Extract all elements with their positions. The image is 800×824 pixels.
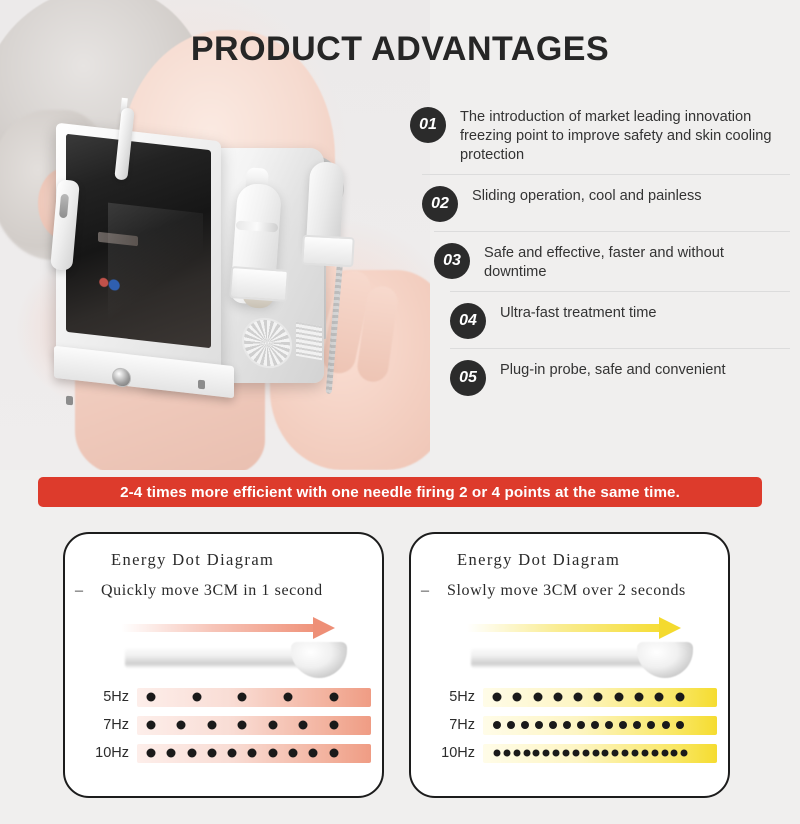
energy-dot <box>662 721 670 729</box>
energy-dot <box>602 750 609 757</box>
advantage-number-badge: 02 <box>422 186 458 222</box>
efficiency-banner: 2-4 times more efficient with one needle… <box>38 477 762 507</box>
energy-dot <box>521 721 529 729</box>
probe-head <box>291 642 347 678</box>
energy-dot <box>329 721 338 730</box>
advantage-number-badge: 04 <box>450 303 486 339</box>
energy-bar <box>137 744 371 763</box>
energy-dot <box>523 750 530 757</box>
energy-dot <box>675 693 684 702</box>
frequency-row: 7Hz <box>79 714 371 736</box>
energy-dot <box>574 693 583 702</box>
frequency-rows: 5Hz 7Hz 10Hz <box>425 686 717 770</box>
probe-tip-illustration <box>115 642 363 678</box>
energy-dot <box>641 750 648 757</box>
energy-bar <box>137 688 371 707</box>
energy-bar <box>483 688 717 707</box>
card-subtitle: –Quickly move 3CM in 1 second <box>75 582 323 600</box>
advantage-number-badge: 05 <box>450 360 486 396</box>
device-foot <box>66 396 73 406</box>
energy-dot <box>192 693 201 702</box>
handpiece-holder <box>301 235 354 268</box>
device-cable <box>326 246 345 394</box>
probe-body <box>125 648 315 668</box>
advantage-text: Safe and effective, faster and without d… <box>484 241 790 282</box>
card-title: Energy Dot Diagram <box>111 550 274 570</box>
energy-dot-diagram-card-slow: Energy Dot Diagram –Slowly move 3CM over… <box>409 532 730 798</box>
advantage-item-04: 04 Ultra-fast treatment time <box>450 291 790 348</box>
frequency-row: 7Hz <box>425 714 717 736</box>
frequency-label: 10Hz <box>425 745 483 761</box>
energy-dot <box>661 750 668 757</box>
energy-dot <box>513 693 522 702</box>
energy-dot <box>614 693 623 702</box>
frequency-label: 10Hz <box>79 745 137 761</box>
energy-dot <box>533 693 542 702</box>
screen-glare <box>108 203 203 334</box>
energy-dot <box>681 750 688 757</box>
frequency-row: 10Hz <box>79 742 371 764</box>
device-vent <box>296 322 322 361</box>
probe-tip-illustration <box>461 642 709 678</box>
energy-dot <box>631 750 638 757</box>
energy-dot <box>647 721 655 729</box>
energy-dot <box>494 750 501 757</box>
frequency-label: 5Hz <box>425 689 483 705</box>
energy-dot <box>147 749 156 758</box>
energy-dot <box>633 721 641 729</box>
advantage-item-02: 02 Sliding operation, cool and painless <box>422 174 790 231</box>
energy-dot <box>507 721 515 729</box>
energy-dot <box>238 721 247 730</box>
energy-dot <box>622 750 629 757</box>
energy-dot <box>553 693 562 702</box>
energy-bar <box>483 744 717 763</box>
energy-dot <box>299 721 308 730</box>
direction-arrow-icon <box>121 617 351 639</box>
energy-dot <box>572 750 579 757</box>
card-subtitle-text: Slowly move 3CM over 2 seconds <box>447 582 686 599</box>
page-title: PRODUCT ADVANTAGES <box>0 30 800 69</box>
advantage-text: The introduction of market leading innov… <box>460 105 790 165</box>
energy-dot <box>207 749 216 758</box>
arrow-head <box>659 617 681 639</box>
energy-dot <box>268 749 277 758</box>
device-illustration <box>46 128 356 390</box>
energy-dot <box>329 693 338 702</box>
frequency-label: 5Hz <box>79 689 137 705</box>
efficiency-banner-text: 2-4 times more efficient with one needle… <box>120 484 680 501</box>
advantage-item-03: 03 Safe and effective, faster and withou… <box>434 231 790 291</box>
energy-dot <box>268 721 277 730</box>
energy-dot <box>563 750 570 757</box>
card-subtitle-dash: – <box>75 582 101 600</box>
device-foot <box>198 380 205 390</box>
energy-dot <box>228 749 237 758</box>
energy-dot <box>535 721 543 729</box>
arrow-shaft <box>121 624 321 632</box>
direction-arrow-icon <box>467 617 697 639</box>
energy-dot <box>676 721 684 729</box>
frequency-rows: 5Hz 7Hz 10Hz <box>79 686 371 770</box>
energy-dot <box>605 721 613 729</box>
energy-dot <box>167 749 176 758</box>
energy-dot <box>147 693 156 702</box>
advantage-item-01: 01 The introduction of market leading in… <box>410 96 790 174</box>
advantages-list: 01 The introduction of market leading in… <box>410 96 790 405</box>
card-subtitle-text: Quickly move 3CM in 1 second <box>101 582 323 599</box>
energy-dot <box>207 721 216 730</box>
energy-dot <box>288 749 297 758</box>
energy-dot <box>594 693 603 702</box>
energy-dot <box>671 750 678 757</box>
energy-dot <box>655 693 664 702</box>
frequency-label: 7Hz <box>79 717 137 733</box>
energy-dot <box>147 721 156 730</box>
energy-bar <box>483 716 717 735</box>
advantage-text: Ultra-fast treatment time <box>500 301 657 323</box>
energy-dot <box>177 721 186 730</box>
advantage-number-badge: 03 <box>434 243 470 279</box>
energy-dot <box>543 750 550 757</box>
frequency-label: 7Hz <box>425 717 483 733</box>
advantage-text: Plug-in probe, safe and convenient <box>500 358 726 380</box>
energy-dot <box>503 750 510 757</box>
energy-dot <box>238 693 247 702</box>
energy-dot <box>513 750 520 757</box>
advantage-item-05: 05 Plug-in probe, safe and convenient <box>450 348 790 405</box>
energy-dot <box>493 693 502 702</box>
energy-dot <box>563 721 571 729</box>
energy-dot <box>591 721 599 729</box>
energy-dot <box>187 749 196 758</box>
screen-brand-mark <box>96 275 122 292</box>
frequency-row: 5Hz <box>425 686 717 708</box>
advantage-number-badge: 01 <box>410 107 446 143</box>
arrow-shaft <box>467 624 667 632</box>
frequency-row: 10Hz <box>425 742 717 764</box>
advantage-text: Sliding operation, cool and painless <box>472 184 702 206</box>
probe-body <box>471 648 661 668</box>
energy-dot <box>651 750 658 757</box>
card-subtitle-dash: – <box>421 582 447 600</box>
energy-dot <box>619 721 627 729</box>
energy-dot <box>577 721 585 729</box>
energy-dot <box>533 750 540 757</box>
frequency-row: 5Hz <box>79 686 371 708</box>
energy-dot <box>634 693 643 702</box>
energy-bar <box>137 716 371 735</box>
energy-dot <box>582 750 589 757</box>
energy-dot <box>283 693 292 702</box>
handpiece-cradle <box>229 266 289 302</box>
energy-dot <box>549 721 557 729</box>
energy-dot <box>592 750 599 757</box>
card-subtitle: –Slowly move 3CM over 2 seconds <box>421 582 686 600</box>
energy-dot <box>612 750 619 757</box>
energy-dot <box>329 749 338 758</box>
arrow-head <box>313 617 335 639</box>
product-advantages-page: PRODUCT ADVANTAGES 01 The introduction o… <box>0 0 800 824</box>
energy-dot <box>248 749 257 758</box>
energy-dot <box>309 749 318 758</box>
energy-dot <box>493 721 501 729</box>
energy-dot <box>553 750 560 757</box>
probe-head <box>637 642 693 678</box>
energy-dot-diagram-card-fast: Energy Dot Diagram –Quickly move 3CM in … <box>63 532 384 798</box>
card-title: Energy Dot Diagram <box>457 550 620 570</box>
